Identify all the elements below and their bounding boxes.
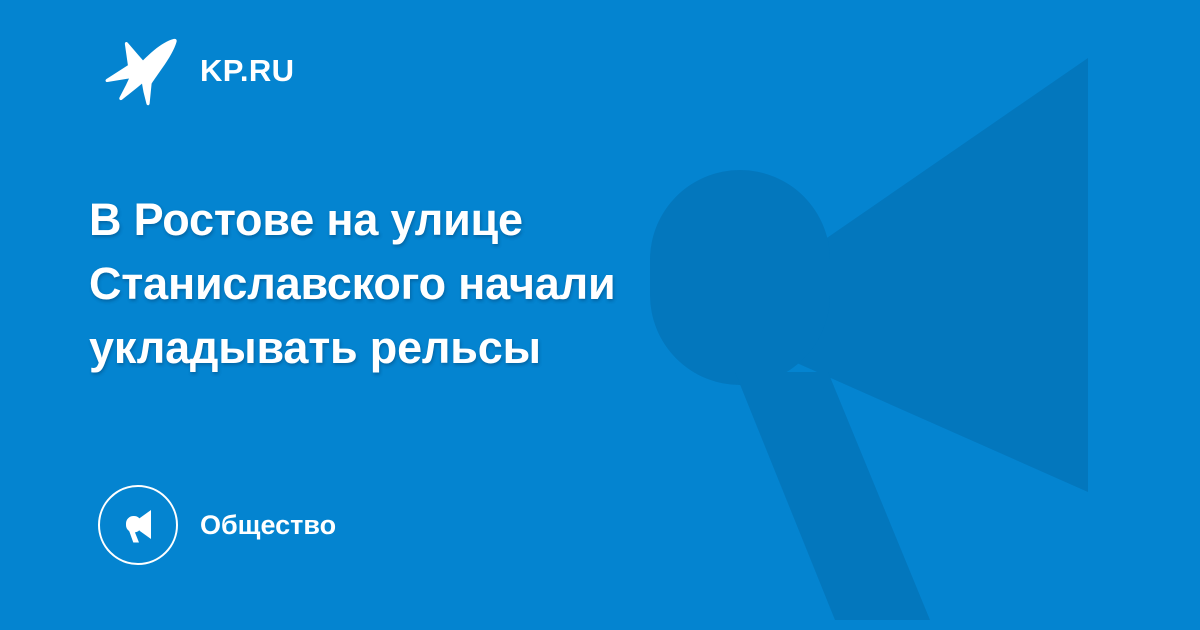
category-badge[interactable]: Общество bbox=[98, 484, 336, 566]
page-title: В Ростове на улице Станиславского начали… bbox=[89, 188, 789, 380]
category-label: Общество bbox=[200, 512, 336, 539]
megaphone-icon bbox=[118, 505, 158, 545]
brand-name: KP.RU bbox=[200, 55, 294, 86]
brand: KP.RU bbox=[104, 34, 294, 106]
social-share-card: KP.RU В Ростове на улице Станиславского … bbox=[0, 0, 1200, 630]
category-icon-ring bbox=[98, 485, 178, 565]
swallow-bird-icon bbox=[104, 34, 182, 106]
